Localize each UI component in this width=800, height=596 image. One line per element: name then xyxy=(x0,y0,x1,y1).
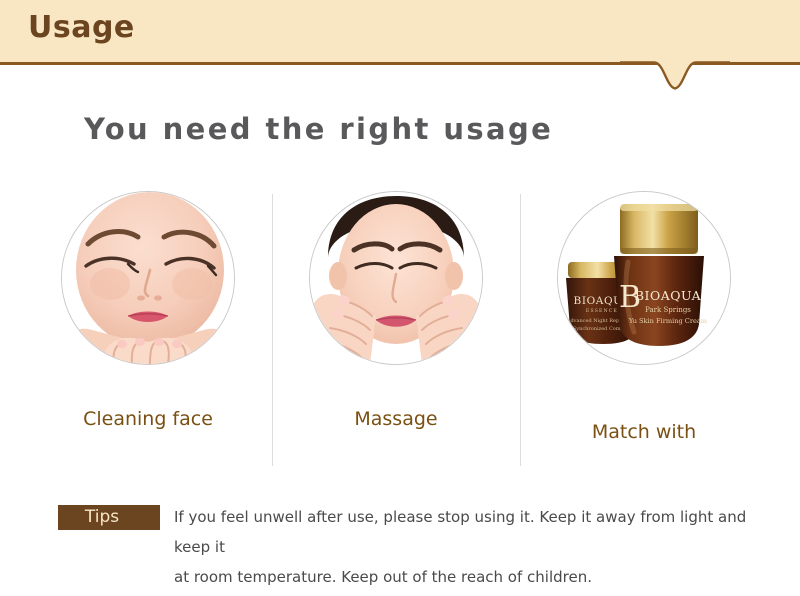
usage-step-product: BIOAQUA ESSENCE Advanced Night Repair Ey… xyxy=(520,186,768,464)
front-jar-line-1: Park Springs xyxy=(645,306,691,314)
header-notch-icon xyxy=(620,60,730,90)
usage-step-cleaning: Cleaning face xyxy=(24,186,272,464)
tips-line-2: at room temperature. Keep out of the rea… xyxy=(174,562,754,592)
page-header: Usage xyxy=(0,0,800,64)
usage-steps: Cleaning face xyxy=(0,186,800,464)
woman-massaging-face-photo xyxy=(310,192,482,364)
back-jar-sub: ESSENCE xyxy=(586,308,618,314)
tips-text: If you feel unwell after use, please sto… xyxy=(174,502,754,592)
usage-step-massage: Massage xyxy=(272,186,520,464)
tips-line-1: If you feel unwell after use, please sto… xyxy=(174,502,754,562)
bioaqua-cream-jars-photo: BIOAQUA ESSENCE Advanced Night Repair Ey… xyxy=(558,192,730,364)
step-caption: Cleaning face xyxy=(24,408,272,430)
section-heading: You need the right usage xyxy=(84,112,553,146)
woman-washing-face-photo xyxy=(62,192,234,364)
tips-badge: Tips xyxy=(58,505,160,530)
page-title: Usage xyxy=(28,10,135,45)
step-caption: Match with xyxy=(520,421,768,443)
front-jar-line-2: Yu Skin Firming Cream xyxy=(628,317,708,325)
step-caption: Massage xyxy=(272,408,520,430)
front-jar-brand: BIOAQUA xyxy=(635,288,702,303)
tips-section: Tips If you feel unwell after use, pleas… xyxy=(0,500,800,570)
